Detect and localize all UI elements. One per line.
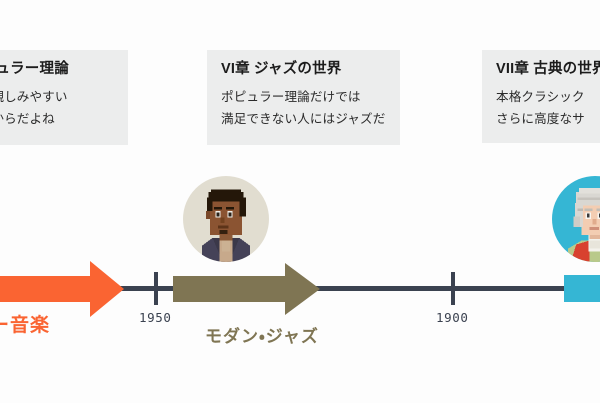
- era-label-popular-music: ー音楽: [0, 310, 50, 337]
- callout-line: 満足できない人にはジャズだ: [221, 108, 386, 130]
- tick-1950: [154, 272, 158, 305]
- callout-line: ポピュラー理論だけでは: [221, 86, 386, 108]
- callout-line: 本格クラシック: [496, 86, 600, 108]
- callout-title: ポピュラー理論: [0, 60, 114, 80]
- callout-classical-world: VII章 古典の世界 本格クラシック さらに高度なサ: [482, 50, 600, 143]
- year-label-1950: 1950: [139, 310, 172, 325]
- callout-popular-theory: ポピュラー理論 ぱり親しみやすい 理論からだよね: [0, 50, 128, 145]
- avatar-classical-composer: [552, 176, 600, 262]
- era-label-modern-jazz: モダン・ジャズ: [205, 322, 319, 347]
- callout-title: VI章 ジャズの世界: [221, 60, 386, 80]
- timeline-infographic: ポピュラー理論 ぱり親しみやすい 理論からだよね VI章 ジャズの世界 ポピュラ…: [0, 0, 600, 403]
- era-arrow-popular-music: [0, 261, 125, 317]
- year-label-1900: 1900: [436, 310, 469, 325]
- era-band-classical: [564, 275, 600, 302]
- callout-line: さらに高度なサ: [496, 108, 600, 130]
- avatar-jazz-musician: [183, 176, 269, 262]
- callout-line: 理論からだよね: [0, 108, 114, 130]
- callout-line: ぱり親しみやすい: [0, 86, 114, 108]
- callout-jazz-world: VI章 ジャズの世界 ポピュラー理論だけでは 満足できない人にはジャズだ: [207, 50, 400, 145]
- tick-1900: [451, 272, 455, 305]
- era-arrow-modern-jazz: [173, 263, 321, 315]
- callout-title: VII章 古典の世界: [496, 60, 600, 80]
